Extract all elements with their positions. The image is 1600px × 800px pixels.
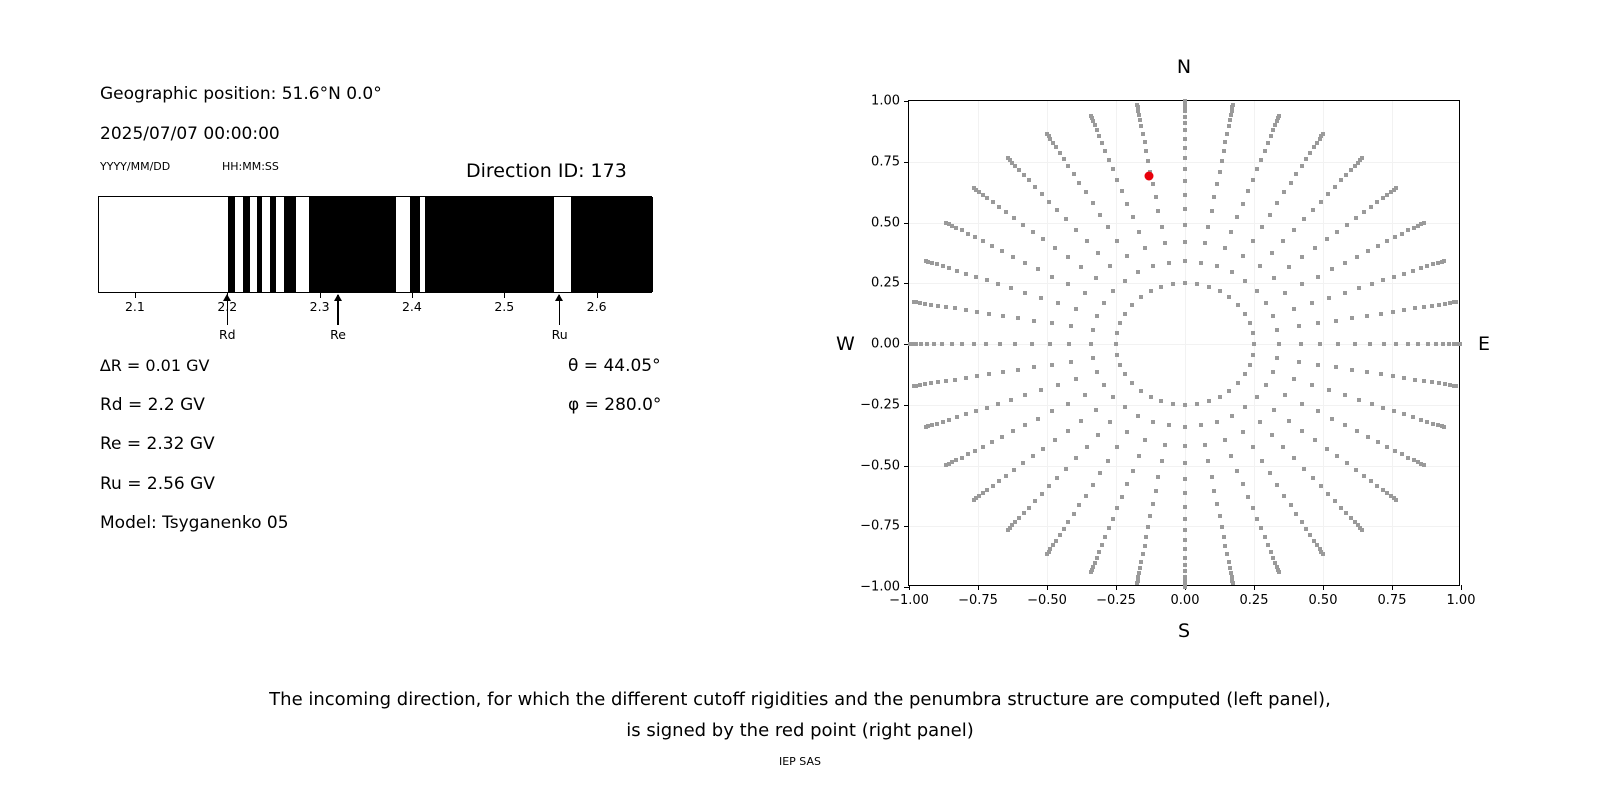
direction-point [1381, 488, 1385, 492]
x-axis-tick-label: −0.75 [958, 593, 998, 608]
direction-point [1016, 316, 1020, 320]
sky-map-plot: −1.00−0.75−0.50−0.250.000.250.500.751.00… [908, 100, 1460, 586]
direction-point [1137, 454, 1141, 458]
direction-point [1275, 483, 1279, 487]
direction-point [1183, 556, 1187, 560]
direction-point [1376, 440, 1380, 444]
direction-point [1281, 445, 1285, 449]
direction-point [1120, 495, 1124, 499]
direction-point [1074, 228, 1078, 232]
direction-point [1248, 363, 1252, 367]
direction-point [1114, 342, 1118, 346]
direction-point [1012, 468, 1016, 472]
direction-point [1227, 389, 1231, 393]
direction-point [1135, 103, 1139, 107]
direction-point [1343, 291, 1347, 295]
direction-point [1375, 484, 1379, 488]
direction-point [1344, 511, 1348, 515]
grid-line-vertical [1323, 101, 1324, 585]
direction-point [1048, 342, 1052, 346]
direction-point [908, 342, 912, 346]
direction-point [1357, 286, 1361, 290]
direction-point [1053, 246, 1057, 250]
direction-point [1300, 520, 1304, 524]
direction-point [1321, 552, 1325, 556]
direction-point [1335, 230, 1339, 234]
y-axis-tick-label: 0.25 [871, 276, 900, 291]
direction-point [923, 302, 927, 306]
direction-point [1183, 517, 1187, 521]
direction-point [1143, 246, 1147, 250]
direction-point [1091, 201, 1095, 205]
direction-point [1055, 476, 1059, 480]
direction-point [1218, 514, 1222, 518]
direction-point [997, 205, 1001, 209]
direction-point [1149, 289, 1153, 293]
x-axis-tick [412, 293, 413, 298]
direction-point [1151, 182, 1155, 186]
forbidden-band [571, 197, 653, 292]
direction-point [1047, 200, 1051, 204]
direction-point [1139, 295, 1143, 299]
direction-point [1136, 270, 1140, 274]
direction-point [1292, 228, 1296, 232]
direction-point [1327, 296, 1331, 300]
direction-point [1016, 368, 1020, 372]
direction-point [1243, 405, 1247, 409]
direction-point [1069, 324, 1073, 328]
direction-point [914, 342, 918, 346]
direction-point [964, 272, 968, 276]
direction-point [985, 278, 989, 282]
direction-point [1125, 430, 1129, 434]
direction-point [981, 193, 985, 197]
direction-point [1270, 251, 1274, 255]
direction-point [1074, 456, 1078, 460]
direction-point [985, 488, 989, 492]
geographic-position-label: Geographic position: 51.6°N 0.0° [100, 84, 382, 104]
direction-point [1054, 145, 1058, 149]
direction-point [1287, 419, 1291, 423]
direction-point [1430, 380, 1434, 384]
direction-point [1353, 342, 1357, 346]
direction-point [1300, 429, 1304, 433]
direction-point [1097, 550, 1101, 554]
direction-point [1023, 261, 1027, 265]
direction-point [1154, 489, 1158, 493]
param-model: Model: Tsyganenko 05 [100, 513, 289, 533]
direction-point [1084, 494, 1088, 498]
direction-point [1385, 445, 1389, 449]
direction-point [1246, 189, 1250, 193]
direction-point [1227, 560, 1231, 564]
direction-point [1064, 217, 1068, 221]
direction-point [1050, 275, 1054, 279]
direction-point [1259, 158, 1263, 162]
direction-point [1241, 254, 1245, 258]
direction-point [1271, 128, 1275, 132]
direction-point [1098, 471, 1102, 475]
right-panel: −1.00−0.75−0.50−0.250.000.250.500.751.00… [790, 0, 1600, 660]
direction-point [1246, 495, 1250, 499]
direction-point [1369, 479, 1373, 483]
direction-point [997, 479, 1001, 483]
direction-point [973, 235, 977, 239]
direction-point [1313, 246, 1317, 250]
selected-direction-marker[interactable] [1145, 172, 1154, 181]
direction-point [1055, 208, 1059, 212]
direction-point [1072, 512, 1076, 516]
direction-point [1001, 314, 1005, 318]
direction-point [1434, 342, 1438, 346]
direction-point [964, 308, 968, 312]
direction-point [1230, 414, 1234, 418]
direction-point [1273, 123, 1277, 127]
left-panel: Geographic position: 51.6°N 0.0° 2025/07… [0, 0, 780, 660]
direction-point [1289, 181, 1293, 185]
direction-point [1139, 389, 1143, 393]
direction-point [1402, 376, 1406, 380]
direction-point [1281, 239, 1285, 243]
y-axis-tick [904, 223, 909, 224]
direction-point [1229, 454, 1233, 458]
direction-point [1251, 506, 1255, 510]
x-axis-tick-label: 0.50 [1309, 593, 1338, 608]
direction-point [1001, 370, 1005, 374]
direction-point [1045, 132, 1049, 136]
direction-point [1021, 461, 1025, 465]
x-axis-tick [1116, 585, 1117, 590]
direction-point [1228, 118, 1232, 122]
direction-point [1294, 172, 1298, 176]
direction-point [1115, 445, 1119, 449]
direction-point [1441, 342, 1445, 346]
direction-point [1400, 232, 1404, 236]
x-axis-tick-label: 2.3 [310, 299, 330, 314]
direction-point [1036, 267, 1040, 271]
direction-point [1011, 429, 1015, 433]
direction-point [987, 312, 991, 316]
direction-point [1425, 264, 1429, 268]
direction-point [1183, 156, 1187, 160]
direction-point [1227, 124, 1231, 128]
x-axis-tick-label: −0.50 [1027, 593, 1067, 608]
direction-point [1248, 321, 1252, 325]
direction-point [1283, 291, 1287, 295]
direction-point [1091, 356, 1095, 360]
direction-point [936, 304, 940, 308]
direction-point [1382, 342, 1386, 346]
direction-point [1218, 395, 1222, 399]
direction-point [1098, 213, 1102, 217]
direction-point [1333, 499, 1337, 503]
direction-point [1368, 342, 1372, 346]
direction-point [1183, 505, 1187, 509]
direction-point [1437, 381, 1441, 385]
direction-point [1272, 276, 1276, 280]
direction-point [1325, 447, 1329, 451]
direction-point [1097, 134, 1101, 138]
forbidden-band [425, 197, 517, 292]
direction-point [1183, 137, 1187, 141]
forbidden-band [339, 197, 396, 292]
direction-point [1327, 388, 1331, 392]
direction-point [1334, 365, 1338, 369]
direction-point [1058, 533, 1062, 537]
direction-point [1031, 230, 1035, 234]
direction-point [1350, 368, 1354, 372]
direction-point [1160, 459, 1164, 463]
x-axis-tick [1392, 585, 1393, 590]
direction-point [1159, 285, 1163, 289]
direction-point [1315, 141, 1319, 145]
direction-point [1454, 300, 1458, 304]
direction-point [1268, 471, 1272, 475]
direction-point [1362, 210, 1366, 214]
direction-point [1381, 196, 1385, 200]
direction-point [1416, 342, 1420, 346]
direction-point [1294, 512, 1298, 516]
direction-point [1040, 192, 1044, 196]
direction-point [1375, 200, 1379, 204]
direction-point [1318, 342, 1322, 346]
direction-point [1354, 468, 1358, 472]
direction-point [1223, 438, 1227, 442]
direction-point [918, 383, 922, 387]
direction-point [1183, 491, 1187, 495]
x-axis-tick [1047, 585, 1048, 590]
y-axis-tick-label: 0.00 [871, 337, 900, 352]
x-axis-tick [135, 293, 136, 298]
param-delta-r-text: R = 0.01 GV [111, 356, 210, 375]
direction-point [1143, 544, 1147, 548]
direction-point [1103, 535, 1107, 539]
direction-point [1139, 124, 1143, 128]
direction-point [1402, 308, 1406, 312]
direction-point [953, 378, 957, 382]
forbidden-band [309, 197, 339, 292]
direction-id-label: Direction ID: 173 [466, 160, 627, 182]
direction-point [990, 244, 994, 248]
x-axis-tick-label: 2.4 [402, 299, 422, 314]
delta-symbol: ∆ [100, 356, 111, 375]
grid-line-vertical [978, 101, 979, 585]
direction-point [1330, 267, 1334, 271]
x-axis-tick [504, 293, 505, 298]
direction-point [1050, 363, 1054, 367]
direction-point [1223, 246, 1227, 250]
direction-point [1093, 123, 1097, 127]
y-axis-tick [904, 466, 909, 467]
direction-point [1125, 202, 1129, 206]
direction-point [1183, 477, 1187, 481]
direction-point [1365, 370, 1369, 374]
direction-point [1227, 295, 1231, 299]
direction-point [1255, 395, 1259, 399]
direction-point [1251, 353, 1255, 357]
direction-point [1345, 223, 1349, 227]
direction-point [929, 381, 933, 385]
direction-point [941, 264, 945, 268]
direction-point [1225, 552, 1229, 556]
direction-point [1343, 423, 1347, 427]
direction-point [1195, 282, 1199, 286]
direction-point [1056, 383, 1060, 387]
direction-point [1156, 209, 1160, 213]
direction-point [1137, 113, 1141, 117]
direction-point [1316, 409, 1320, 413]
direction-point [1339, 178, 1343, 182]
direction-point [1141, 552, 1145, 556]
direction-point [1431, 422, 1435, 426]
direction-point [1183, 240, 1187, 244]
direction-point [1228, 566, 1232, 570]
direction-point [972, 342, 976, 346]
y-axis-tick-label: −0.25 [860, 397, 900, 412]
direction-point [1360, 528, 1364, 532]
direction-point [1120, 189, 1124, 193]
x-axis-tick [1461, 585, 1462, 590]
direction-point [1027, 178, 1031, 182]
direction-point [1032, 365, 1036, 369]
direction-point [1271, 370, 1275, 374]
direction-point [912, 300, 916, 304]
direction-point [1167, 261, 1171, 265]
direction-point [1268, 213, 1272, 217]
rigidity-marker-label: Re [330, 327, 346, 342]
direction-point [975, 374, 979, 378]
direction-point [1115, 353, 1119, 357]
param-re: Re = 2.32 GV [100, 434, 215, 454]
direction-point [1123, 312, 1127, 316]
direction-point [1218, 289, 1222, 293]
direction-point [930, 261, 934, 265]
direction-point [1282, 190, 1286, 194]
direction-point [1058, 151, 1062, 155]
direction-point [1231, 103, 1235, 107]
direction-point [1316, 363, 1320, 367]
direction-point [1215, 502, 1219, 506]
direction-point [1183, 585, 1187, 589]
direction-point [981, 491, 985, 495]
x-axis-tick [1323, 585, 1324, 590]
direction-point [1366, 435, 1370, 439]
direction-point [1308, 533, 1312, 537]
direction-point [1041, 447, 1045, 451]
direction-point [944, 379, 948, 383]
direction-point [1095, 556, 1099, 560]
direction-point [1111, 167, 1115, 171]
penumbra-chart [98, 196, 652, 293]
direction-point [1138, 566, 1142, 570]
direction-point [1255, 167, 1259, 171]
direction-point [1355, 255, 1359, 259]
direction-point [912, 384, 916, 388]
direction-point [1289, 503, 1293, 507]
direction-point [1054, 539, 1058, 543]
direction-point [1275, 356, 1279, 360]
direction-point [1442, 259, 1446, 263]
direction-point [935, 422, 939, 426]
direction-point [1411, 269, 1415, 273]
direction-point [1199, 261, 1203, 265]
x-axis-tick-label: −1.00 [889, 593, 929, 608]
direction-point [991, 200, 995, 204]
direction-point [1292, 307, 1296, 311]
direction-point [1381, 278, 1385, 282]
direction-point [1118, 363, 1122, 367]
direction-point [1312, 539, 1316, 543]
direction-point [981, 445, 985, 449]
caption-line-1: The incoming direction, for which the di… [0, 684, 1600, 715]
direction-point [1321, 132, 1325, 136]
direction-point [1349, 168, 1353, 172]
direction-point [964, 376, 968, 380]
direction-point [1022, 511, 1026, 515]
direction-point [1393, 235, 1397, 239]
direction-point [1230, 270, 1234, 274]
direction-point [1283, 393, 1287, 397]
direction-point [1311, 476, 1315, 480]
direction-point [1210, 475, 1214, 479]
direction-point [1095, 128, 1099, 132]
direction-point [1009, 398, 1013, 402]
direction-point [1123, 372, 1127, 376]
direction-point [1171, 282, 1175, 286]
grid-line-horizontal [909, 466, 1459, 467]
direction-point [1027, 506, 1031, 510]
direction-point [1183, 563, 1187, 567]
direction-point [1379, 372, 1383, 376]
param-rd: Rd = 2.2 GV [100, 395, 205, 415]
direction-point [1270, 433, 1274, 437]
direction-point [1300, 282, 1304, 286]
direction-point [1156, 475, 1160, 479]
grid-line-horizontal [909, 162, 1459, 163]
direction-point [1430, 304, 1434, 308]
direction-point [1302, 217, 1306, 221]
direction-point [966, 452, 970, 456]
direction-point [1017, 168, 1021, 172]
direction-point [1144, 149, 1148, 153]
direction-point [1344, 173, 1348, 177]
y-axis-tick [904, 162, 909, 163]
direction-point [1171, 402, 1175, 406]
direction-point [1426, 342, 1430, 346]
direction-point [1394, 498, 1398, 502]
direction-point [1091, 483, 1095, 487]
direction-point [1299, 342, 1303, 346]
direction-point [960, 228, 964, 232]
x-axis-tick [1254, 585, 1255, 590]
direction-point [1422, 379, 1426, 383]
compass-label-east: E [1478, 333, 1490, 355]
direction-point [1183, 179, 1187, 183]
direction-point [1130, 303, 1134, 307]
direction-point [1325, 237, 1329, 241]
direction-point [1235, 215, 1239, 219]
direction-point [1402, 412, 1406, 416]
direction-point [1316, 321, 1320, 325]
direction-point [1022, 173, 1026, 177]
direction-point [1308, 151, 1312, 155]
direction-point [1062, 527, 1066, 531]
direction-point [1365, 314, 1369, 318]
direction-point [973, 449, 977, 453]
direction-point [1334, 319, 1338, 323]
direction-point [1083, 393, 1087, 397]
direction-point [984, 342, 988, 346]
